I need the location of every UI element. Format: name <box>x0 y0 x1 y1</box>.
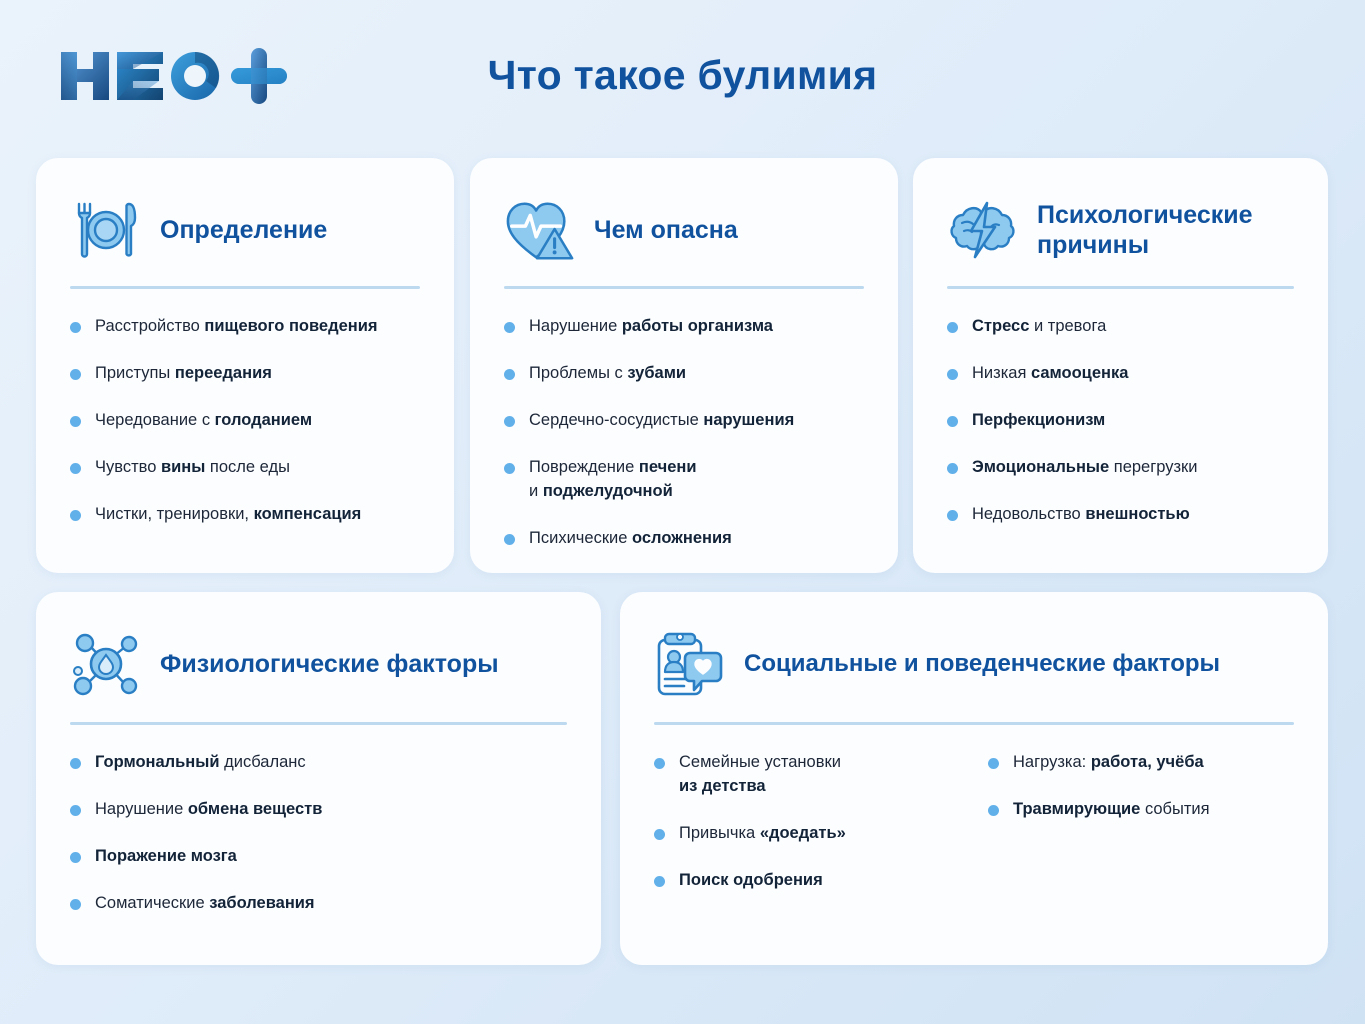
bullet-dot <box>504 416 515 427</box>
list-item: Чистки, тренировки, компенсация <box>70 503 424 527</box>
bullet-emphasis: Стресс <box>972 317 1029 335</box>
list-item: Поражение мозга <box>70 845 571 869</box>
bullet-text: Нарушение <box>529 317 622 335</box>
bullet-emphasis: Гормональный <box>95 753 220 771</box>
bullet-emphasis: заболевания <box>209 894 314 912</box>
list-item: Сердечно-сосудистые нарушения <box>504 409 868 433</box>
list-item: Нарушение обмена веществ <box>70 798 571 822</box>
bullet-dot <box>654 876 665 887</box>
bullet-emphasis: работы организма <box>622 317 773 335</box>
bullet-text: Нарушение <box>95 800 188 818</box>
bullet-text: Проблемы с <box>529 364 627 382</box>
list-item: Повреждение печении поджелудочной <box>504 456 868 504</box>
card-header: Определение <box>36 158 454 266</box>
list-item: Недовольство внешностью <box>947 503 1298 527</box>
card-dangers: Чем опасна Нарушение работы организма Пр… <box>470 158 898 573</box>
card-physiological-factors: Физиологические факторы Гормональный дис… <box>36 592 601 965</box>
list-item: Проблемы с зубами <box>504 362 868 386</box>
bullet-text: Повреждение <box>529 458 639 476</box>
bullet-text: Нагрузка: <box>1013 753 1091 771</box>
bullet-emphasis: печени <box>639 458 697 476</box>
card-title: Физиологические факторы <box>160 649 499 679</box>
bullet-dot <box>70 758 81 769</box>
bullet-text: Привычка <box>679 824 760 842</box>
bullet-list: Расстройство пищевого поведения Приступы… <box>36 289 454 527</box>
bullet-text-line2: и <box>529 482 543 500</box>
bullet-text: Чередование с <box>95 411 215 429</box>
bullet-emphasis: зубами <box>627 364 686 382</box>
bullet-text: Соматические <box>95 894 209 912</box>
bullet-emphasis: внешностью <box>1085 505 1189 523</box>
card-header: Чем опасна <box>470 158 898 266</box>
list-item: Чередование с голоданием <box>70 409 424 433</box>
bullet-dot <box>504 369 515 380</box>
bullet-text: Низкая <box>972 364 1031 382</box>
bullet-dot <box>504 322 515 333</box>
bullet-list: Гормональный дисбаланс Нарушение обмена … <box>36 725 601 916</box>
list-item: Гормональный дисбаланс <box>70 751 571 775</box>
list-item: Приступы переедания <box>70 362 424 386</box>
list-item: Низкая самооценка <box>947 362 1298 386</box>
bullet-dot <box>70 463 81 474</box>
brain-lightning-icon <box>947 194 1019 266</box>
list-item: Нарушение работы организма <box>504 315 868 339</box>
bullet-dot <box>947 416 958 427</box>
list-item: Стресс и тревога <box>947 315 1298 339</box>
bullet-dot <box>504 463 515 474</box>
bullet-dot <box>70 805 81 816</box>
bullet-emphasis: голоданием <box>215 411 312 429</box>
bullet-emphasis: самооценка <box>1031 364 1128 382</box>
bullet-emphasis: Поиск одобрения <box>679 871 823 889</box>
bullet-dot <box>70 899 81 910</box>
list-item: Расстройство пищевого поведения <box>70 315 424 339</box>
list-item: Чувство вины после еды <box>70 456 424 480</box>
bullet-emphasis: Эмоциональные <box>972 458 1109 476</box>
bullet-emphasis: обмена веществ <box>188 800 323 818</box>
bullet-text: Сердечно-сосудистые <box>529 411 703 429</box>
bullet-list: Нарушение работы организма Проблемы с зу… <box>470 289 898 551</box>
list-item: Травмирующие события <box>988 798 1298 822</box>
list-item: Привычка «доедать» <box>654 822 964 846</box>
bullet-emphasis: Поражение мозга <box>95 847 237 865</box>
plate-cutlery-icon <box>70 194 142 266</box>
bullet-emphasis: Перфекционизм <box>972 411 1105 429</box>
list-item: Эмоциональные перегрузки <box>947 456 1298 480</box>
bullet-text-tail: и тревога <box>1029 317 1106 335</box>
card-header: Социальные и поведенческие факторы <box>620 592 1328 700</box>
bullet-text: Расстройство <box>95 317 204 335</box>
bullet-columns: Семейные установкииз детства Привычка «д… <box>620 725 1328 893</box>
bullet-dot <box>70 369 81 380</box>
bullet-dot <box>988 758 999 769</box>
bullet-list-right: Нагрузка: работа, учёба Травмирующие соб… <box>988 751 1298 893</box>
bullet-dot <box>947 510 958 521</box>
card-psychological-causes: Психологические причины Стресс и тревога… <box>913 158 1328 573</box>
bullet-text: Психические <box>529 529 632 547</box>
list-item: Семейные установкииз детства <box>654 751 964 799</box>
bullet-text: Чистки, тренировки, <box>95 505 254 523</box>
page-title: Что такое булимия <box>0 52 1365 99</box>
bullet-dot <box>70 416 81 427</box>
list-item: Нагрузка: работа, учёба <box>988 751 1298 775</box>
page-header: Что такое булимия <box>0 0 1365 150</box>
card-header: Физиологические факторы <box>36 592 601 700</box>
bullet-dot <box>70 510 81 521</box>
bullet-text-tail: после еды <box>205 458 290 476</box>
bullet-emphasis: переедания <box>175 364 272 382</box>
clipboard-person-heart-icon <box>654 628 726 700</box>
card-social-behavioral-factors: Социальные и поведенческие факторы Семей… <box>620 592 1328 965</box>
bullet-list-left: Семейные установкииз детства Привычка «д… <box>654 751 964 893</box>
bullet-dot <box>988 805 999 816</box>
bullet-text-tail: события <box>1140 800 1209 818</box>
bullet-text: Семейные установки <box>679 753 841 771</box>
card-title: Определение <box>160 215 327 245</box>
bullet-dot <box>947 322 958 333</box>
list-item: Перфекционизм <box>947 409 1298 433</box>
bullet-emphasis: вины <box>161 458 205 476</box>
card-title: Чем опасна <box>594 215 738 245</box>
bullet-dot <box>654 758 665 769</box>
bullet-dot <box>70 322 81 333</box>
bullet-emphasis: «доедать» <box>760 824 846 842</box>
list-item: Соматические заболевания <box>70 892 571 916</box>
bullet-emphasis: Травмирующие <box>1013 800 1140 818</box>
bullet-text-tail: перегрузки <box>1109 458 1197 476</box>
bullet-text: Чувство <box>95 458 161 476</box>
molecule-droplet-icon <box>70 628 142 700</box>
list-item: Психические осложнения <box>504 527 868 551</box>
bullet-dot <box>70 852 81 863</box>
bullet-emphasis-line2: поджелудочной <box>543 482 673 500</box>
bullet-emphasis: осложнения <box>632 529 732 547</box>
bullet-list: Стресс и тревога Низкая самооценка Перфе… <box>913 289 1328 527</box>
card-title: Социальные и поведенческие факторы <box>744 650 1220 679</box>
bullet-emphasis: компенсация <box>254 505 362 523</box>
bullet-dot <box>654 829 665 840</box>
bullet-text-tail: дисбаланс <box>220 753 306 771</box>
bullet-emphasis: пищевого поведения <box>204 317 377 335</box>
heart-pulse-warning-icon <box>504 194 576 266</box>
bullet-emphasis: работа, учёба <box>1091 753 1204 771</box>
card-header: Психологические причины <box>913 158 1328 266</box>
bullet-text: Приступы <box>95 364 175 382</box>
card-definition: Определение Расстройство пищевого поведе… <box>36 158 454 573</box>
bullet-dot <box>947 463 958 474</box>
bullet-dot <box>947 369 958 380</box>
bullet-emphasis-line2: из детства <box>679 777 766 795</box>
card-title: Психологические причины <box>1037 200 1294 260</box>
bullet-dot <box>504 534 515 545</box>
bullet-text: Недовольство <box>972 505 1085 523</box>
bullet-emphasis: нарушения <box>703 411 794 429</box>
list-item: Поиск одобрения <box>654 869 964 893</box>
